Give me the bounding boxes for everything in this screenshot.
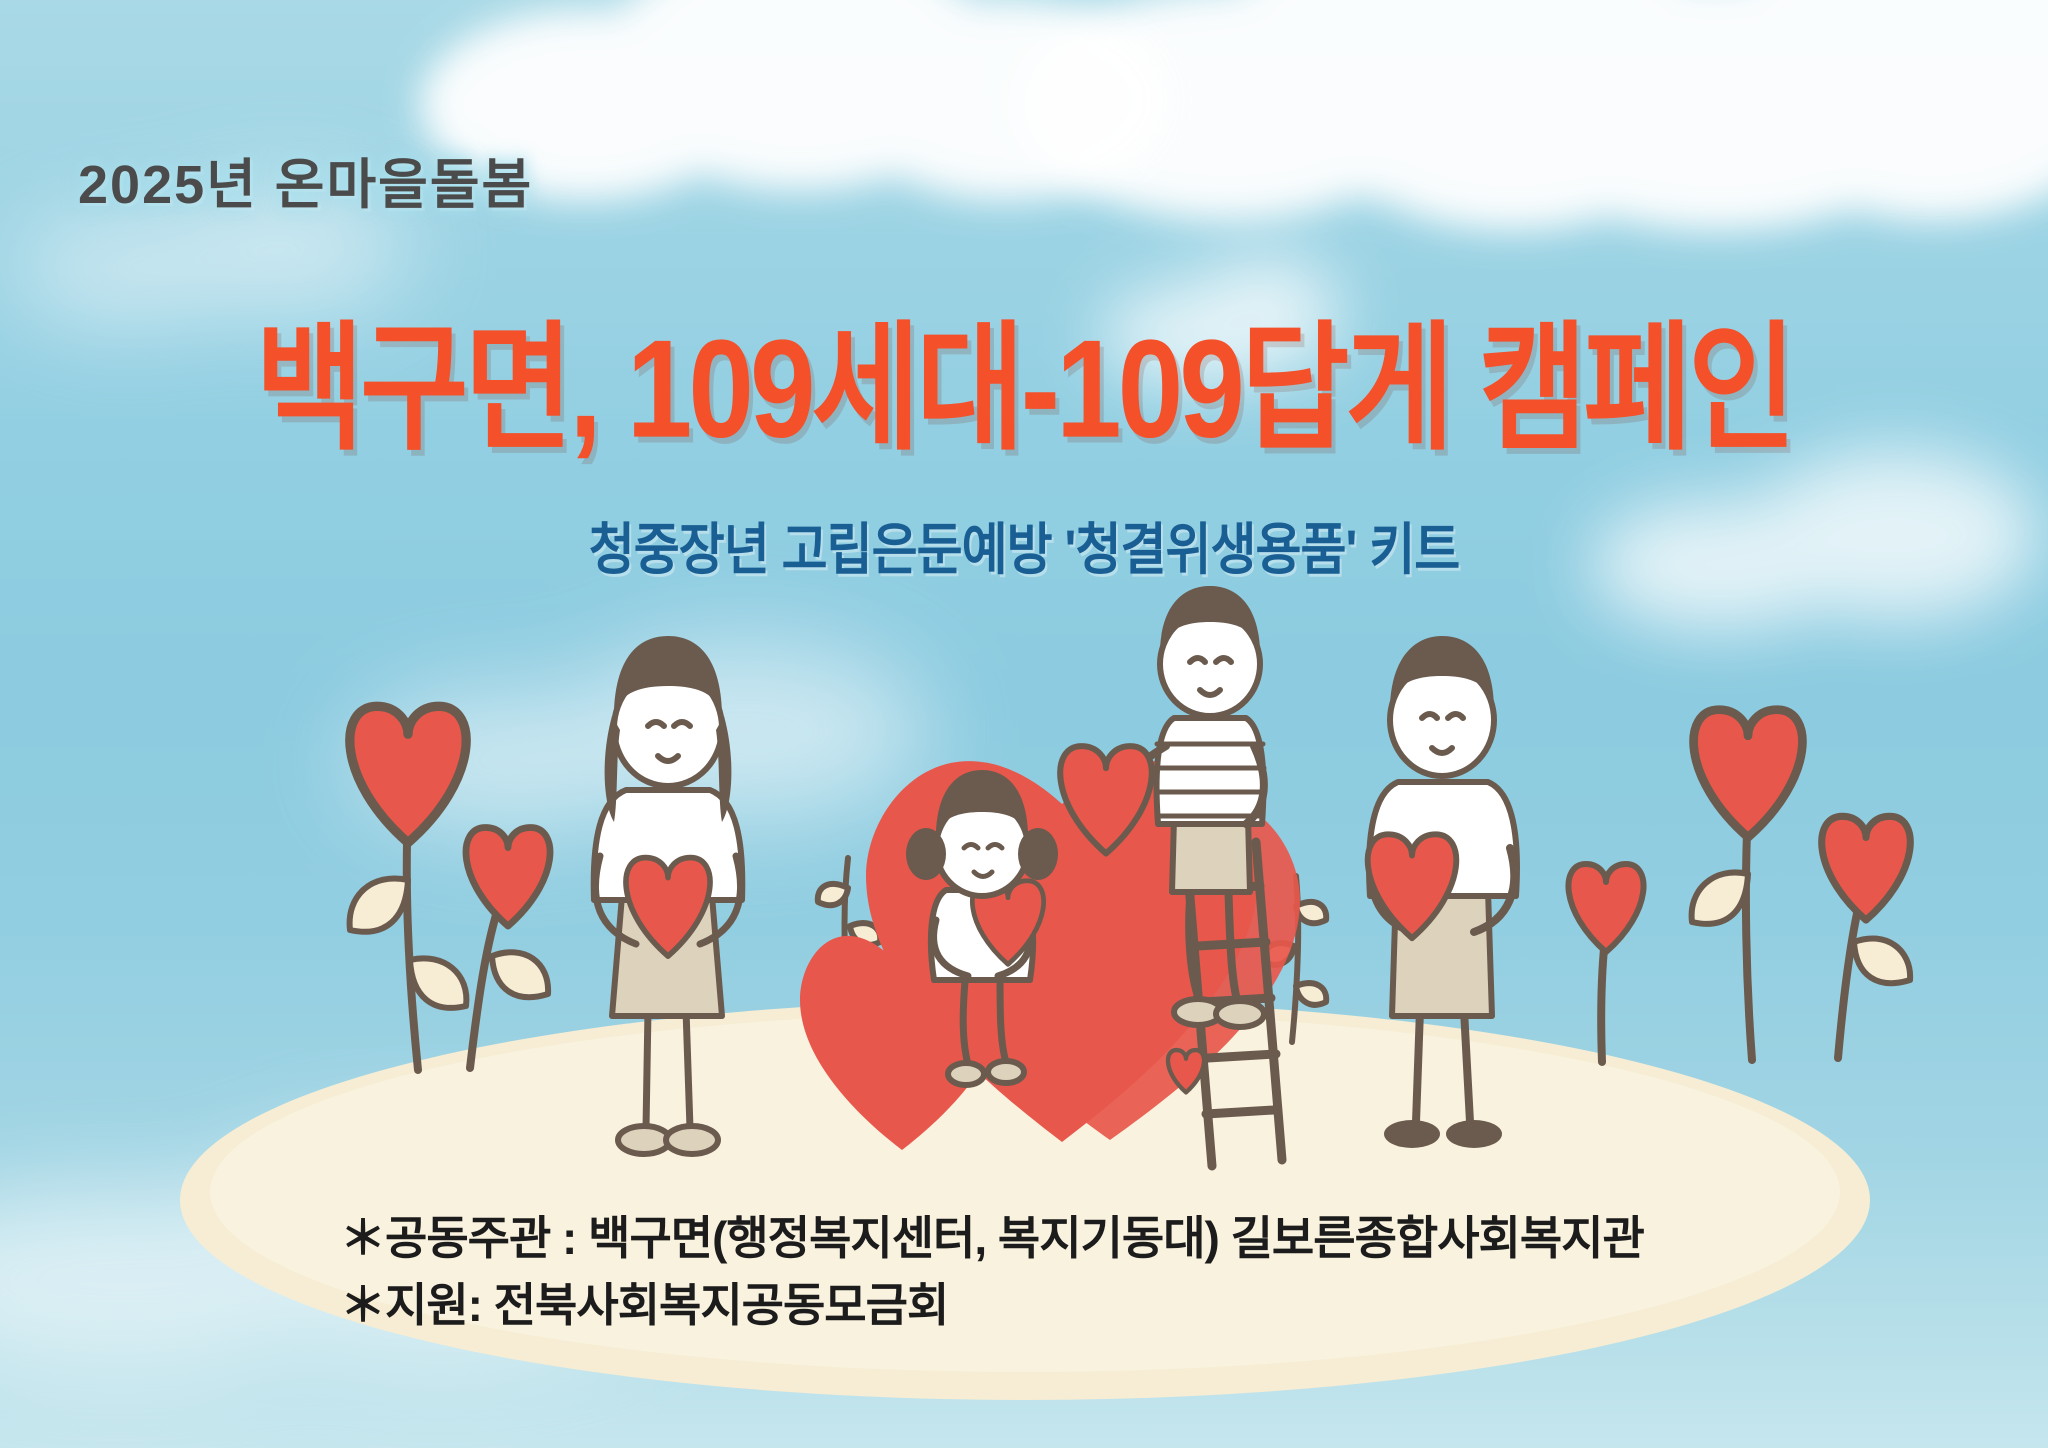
figure-man-standing (1368, 636, 1517, 1148)
footer-credits: ＊공동주관 : 백구면(행정복지센터, 복지기동대) 길보른종합사회복지관 ＊지… (340, 1205, 1840, 1338)
heart-flower-left-short (466, 828, 550, 1068)
footer-line-cohost: ＊공동주관 : 백구면(행정복지센터, 복지기동대) 길보른종합사회복지관 (340, 1205, 1840, 1272)
heart-flower-right-small (1568, 864, 1643, 1062)
figure-woman-standing (594, 636, 743, 1154)
heart-flower-right-mid (1822, 816, 1911, 1058)
heart-flower-right-tall (1692, 710, 1803, 1060)
heart-flower-left-tall (350, 706, 467, 1070)
poster-root: 2025년 온마을돌봄 백구면, 109세대-109답게 캠페인 청중장년 고립… (0, 0, 2048, 1448)
footer-line-sponsor: ＊지원: 전북사회복지공동모금회 (340, 1272, 1840, 1339)
